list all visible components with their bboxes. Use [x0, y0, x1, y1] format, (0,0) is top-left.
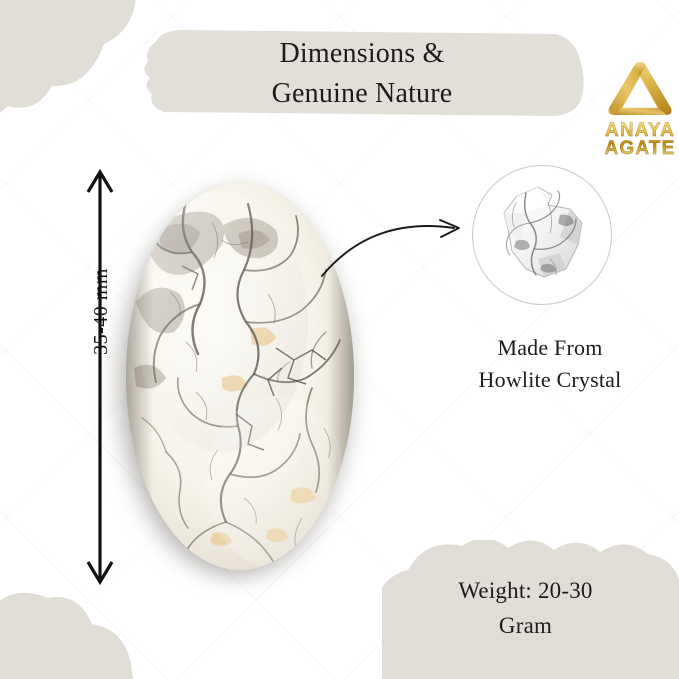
weight-line-2: Gram — [382, 609, 669, 644]
raw-howlite-chunk-icon — [486, 179, 598, 291]
caption-line-2: Howlite Crystal — [422, 364, 678, 396]
brand-line-2: AGATE — [594, 140, 679, 158]
brand-wordmark: ANAYA AGATE — [594, 122, 679, 158]
curved-callout-arrow — [312, 200, 472, 292]
brand-logo: ANAYA AGATE — [594, 58, 679, 158]
infographic-canvas: Dimensions & Genuine Nature — [0, 0, 679, 679]
weight-text: Weight: 20-30 Gram — [382, 574, 669, 643]
weight-line-1: Weight: 20-30 — [382, 574, 669, 609]
triangle-gem-logo-icon — [603, 58, 677, 120]
material-caption: Made From Howlite Crystal — [422, 332, 678, 396]
weight-badge: Weight: 20-30 Gram — [382, 540, 679, 679]
raw-howlite-chunk-image — [486, 179, 598, 291]
caption-line-1: Made From — [422, 332, 678, 364]
raw-crystal-inset — [472, 165, 612, 305]
cloud-decoration-top-left — [0, 0, 139, 142]
title-line-2: Genuine Nature — [272, 74, 453, 114]
page-title: Dimensions & Genuine Nature — [138, 26, 586, 122]
title-line-1: Dimensions & — [280, 34, 445, 74]
cloud-decoration-bottom-left — [0, 586, 166, 679]
